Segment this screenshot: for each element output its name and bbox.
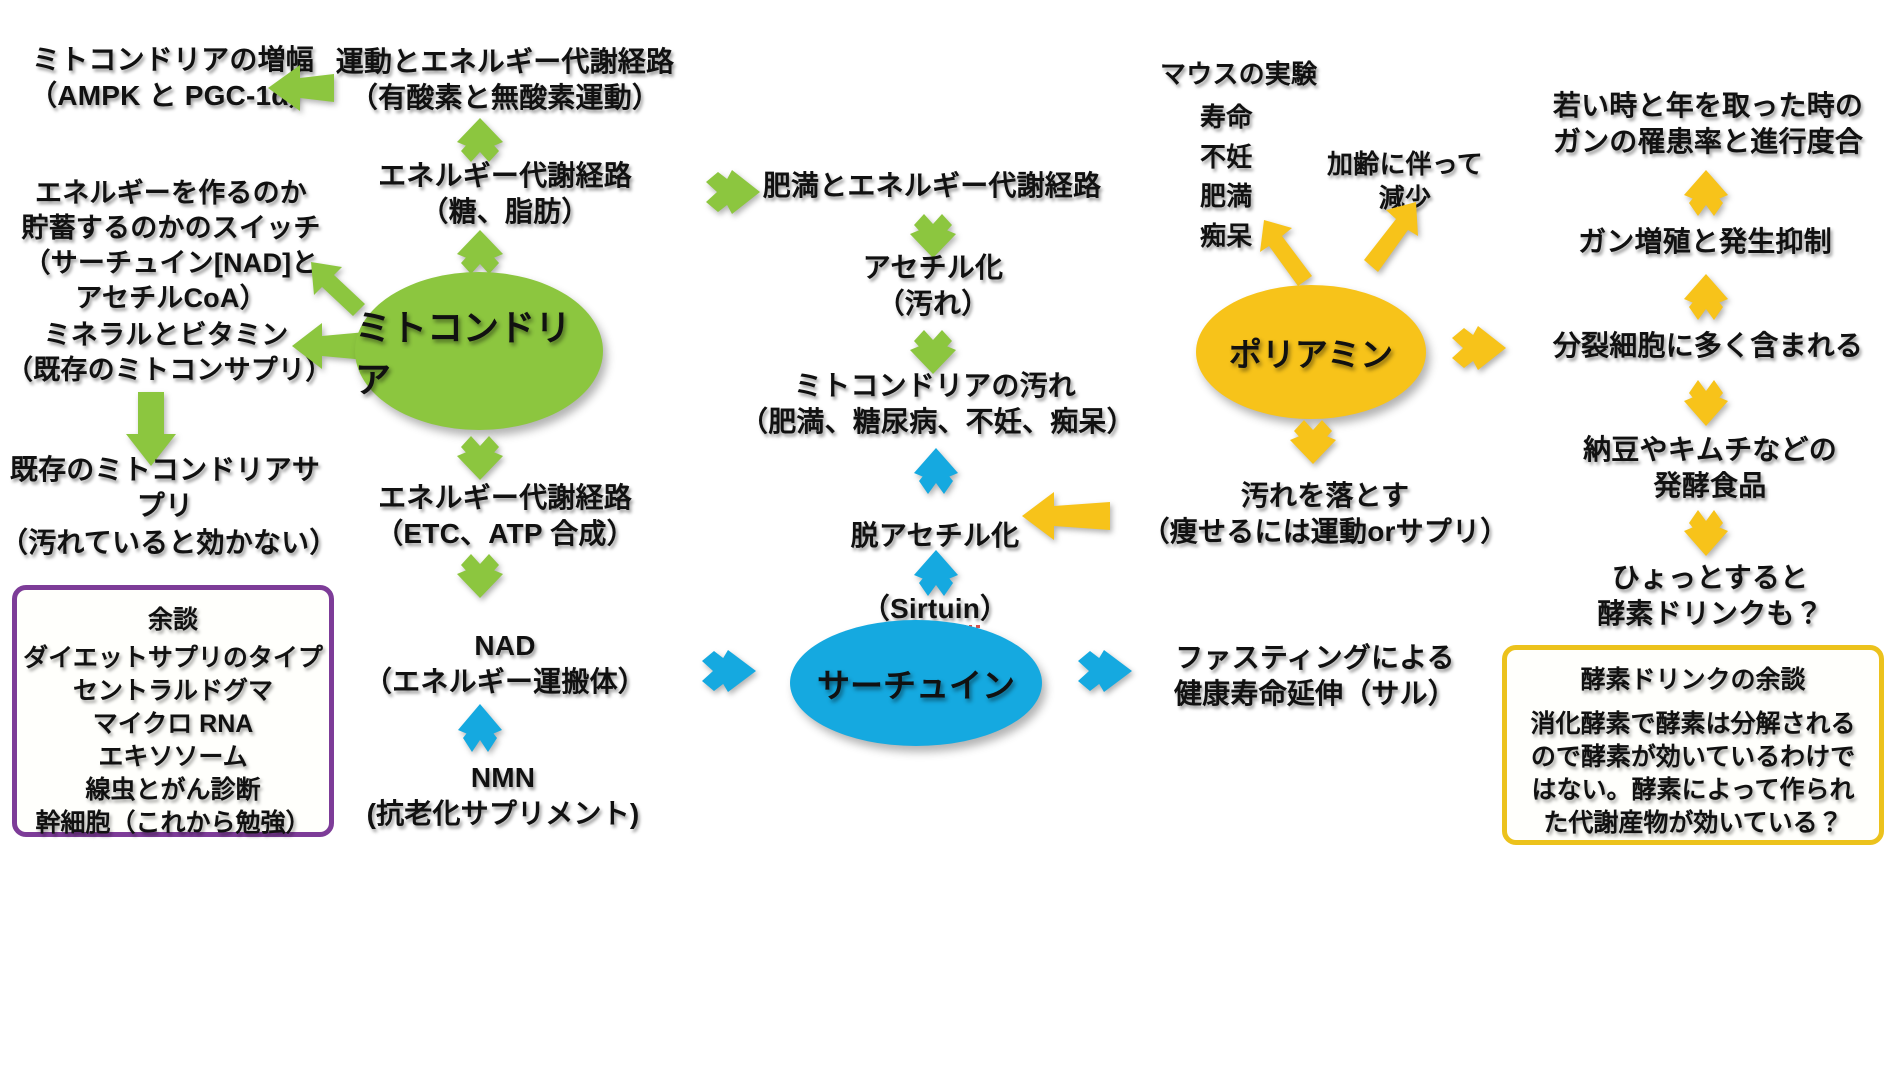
- node-dividing-cells: 分裂細胞に多く含まれる: [1528, 328, 1888, 364]
- node-mouse-experiment-title: マウスの実験: [1160, 58, 1420, 92]
- node-nad: NAD （エネルギー運搬体）: [340, 628, 670, 701]
- aside-purple-body: ダイエットサプリのタイプ セントラルドグマ マイクロ RNA エキソソーム 線虫…: [17, 642, 329, 840]
- node-enzyme-drink-question: ひょっとすると 酵素ドリンクも？: [1540, 560, 1880, 633]
- arrow-dividing-cells-to-suppression: [1682, 272, 1730, 322]
- hub-sirtuin[interactable]: サーチュイン: [790, 620, 1042, 746]
- arrow-fermented-to-enzyme-drink: [1682, 508, 1730, 558]
- node-deacetylation-open-paren: （: [862, 593, 890, 624]
- hub-mitochondria-label: ミトコンドリア: [355, 299, 603, 403]
- aside-yellow-title: 酵素ドリンクの余談: [1507, 664, 1879, 697]
- arrow-mito-to-energy-pathway: [455, 228, 505, 276]
- node-acetylation: アセチル化 （汚れ）: [775, 250, 1091, 323]
- arrow-up-to-exercise: [455, 116, 505, 164]
- hub-polyamine-label: ポリアミン: [1229, 328, 1393, 376]
- arrow-polyamine-to-mouse: [1258, 218, 1316, 288]
- node-remove-dirt: 汚れを落とす （痩せるには運動orサプリ）: [1135, 478, 1515, 551]
- arrow-cancer-suppression-to-rate: [1682, 168, 1730, 218]
- hub-polyamine[interactable]: ポリアミン: [1196, 285, 1426, 419]
- node-fermented-foods: 納豆やキムチなどの 発酵食品: [1540, 432, 1880, 505]
- node-nmn: NMN (抗老化サプリメント): [338, 760, 668, 833]
- arrow-nmn-to-nad: [456, 702, 504, 754]
- node-energy-pathway-sugar-fat: エネルギー代謝経路 （糖、脂肪）: [340, 158, 670, 231]
- node-cancer-rate: 若い時と年を取った時の ガンの罹患率と進行度合: [1528, 88, 1888, 161]
- node-minerals-vitamins: ミネラルとビタミン （既存のミトコンサプリ）: [6, 318, 326, 388]
- arrow-dividing-cells-to-fermented: [1682, 378, 1730, 428]
- node-energy-pathway-etc-atp: エネルギー代謝経路 （ETC、ATP 合成）: [340, 480, 670, 553]
- node-existing-supplement: 既存のミトコンドリアサプリ （汚れていると効かない）: [0, 452, 330, 561]
- hub-mitochondria[interactable]: ミトコンドリア: [355, 272, 603, 430]
- arrow-etc-to-nad: [455, 552, 505, 600]
- arrow-remove-dirt-to-deacetylation: [1020, 490, 1112, 542]
- node-obesity-energy-pathway: 肥満とエネルギー代謝経路: [752, 168, 1112, 204]
- node-exercise-pathway: 運動とエネルギー代謝経路 （有酸素と無酸素運動）: [330, 44, 680, 117]
- node-energy-switch: エネルギーを作るのか 貯蓄するのかのスイッチ （サーチュイン[NAD]と アセチ…: [6, 176, 336, 316]
- node-cancer-suppression: ガン増殖と発生抑制: [1540, 224, 1870, 260]
- node-deacetylation-main: 脱アセチル化: [851, 520, 1020, 551]
- arrow-left-to-amplification: [266, 60, 336, 116]
- arrow-mito-to-etc: [455, 434, 505, 482]
- arrow-sirtuin-to-fasting: [1068, 648, 1134, 694]
- node-fasting: ファスティングによる 健康寿命延伸（サル）: [1150, 640, 1480, 713]
- node-mito-dirt: ミトコンドリアの汚れ （肥満、糖尿病、不妊、痴呆）: [740, 368, 1130, 441]
- aside-box-yellow: 酵素ドリンクの余談 消化酵素で酵素は分解される ので酵素が効いているわけで はな…: [1502, 645, 1884, 845]
- aside-box-purple: 余談 ダイエットサプリのタイプ セントラルドグマ マイクロ RNA エキソソーム…: [12, 585, 334, 837]
- aside-yellow-body: 消化酵素で酵素は分解される ので酵素が効いているわけで はない。酵素によって作ら…: [1515, 708, 1871, 840]
- hub-sirtuin-label: サーチュイン: [817, 659, 1015, 707]
- arrow-sirtuin-to-deacetylation: [912, 548, 960, 598]
- arrow-polyamine-to-remove-dirt: [1288, 418, 1338, 466]
- arrow-polyamine-to-dividing-cells: [1446, 324, 1508, 372]
- node-deacetylation-close-paren: ）: [980, 593, 1008, 624]
- diagram-canvas: ミトコンドリアの増幅 （AMPK と PGC-1α） エネルギーを作るのか 貯蓄…: [0, 0, 1892, 1066]
- aside-purple-title: 余談: [17, 604, 329, 637]
- arrow-nad-to-sirtuin: [692, 648, 758, 694]
- arrow-polyamine-to-aging: [1360, 200, 1422, 274]
